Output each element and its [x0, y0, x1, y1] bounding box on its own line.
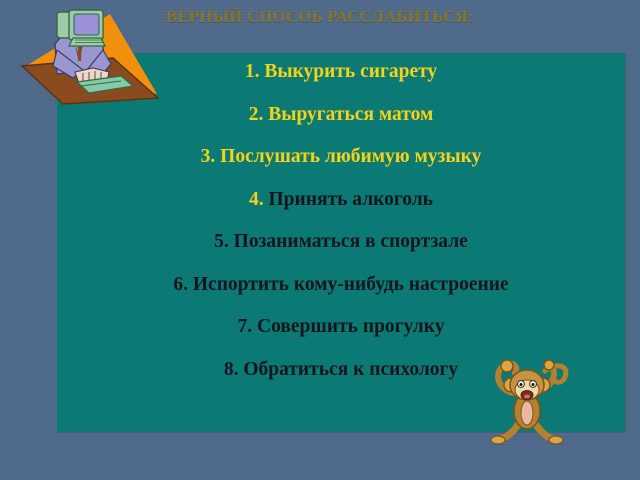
- list-item: 7. Совершить прогулку: [57, 316, 625, 337]
- list-item: 4. Принять алкоголь: [57, 189, 625, 210]
- list-item: 2. Выругаться матом: [57, 104, 625, 125]
- monkey-icon: [483, 349, 571, 449]
- list-item-label: Принять алкоголь: [268, 189, 433, 210]
- list-item-number: 2.: [249, 104, 264, 125]
- list-item-number: 8.: [224, 359, 239, 380]
- list-item-number: 7.: [238, 316, 253, 337]
- list-item-number: 6.: [173, 274, 188, 295]
- list-item-label: Обратиться к психологу: [243, 359, 458, 380]
- list-item-number: 5.: [214, 231, 229, 252]
- list-item-label: Позаниматься в спортзале: [234, 231, 468, 252]
- list-item-number: 1.: [245, 61, 260, 82]
- list-item: 3. Послушать любимую музыку: [57, 146, 625, 167]
- list-item-label: Выкурить сигарету: [264, 61, 437, 82]
- computer-head-person-typing-icon: [17, 6, 177, 106]
- list-item-label: Испортить кому-нибудь настроение: [193, 274, 509, 295]
- list-item-label: Выругаться матом: [268, 104, 433, 125]
- list-item-number: 4.: [249, 189, 264, 210]
- list-item-label: Послушать любимую музыку: [220, 146, 481, 167]
- presentation-slide: ВЕРНЫЙ СПОСОБ РАССЛАБИТЬСЯ: 1. Выкурить …: [0, 0, 640, 480]
- list-item-number: 3.: [201, 146, 216, 167]
- list-item: 6. Испортить кому-нибудь настроение: [57, 274, 625, 295]
- list-item: 5. Позаниматься в спортзале: [57, 231, 625, 252]
- list-item-label: Совершить прогулку: [257, 316, 444, 337]
